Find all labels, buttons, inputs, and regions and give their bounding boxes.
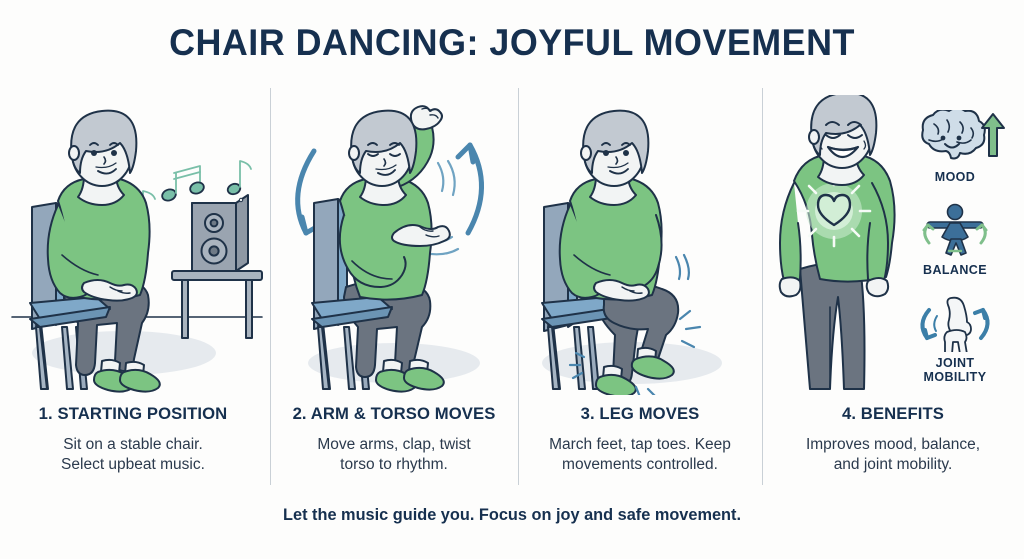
panel-4-body-line-2: and joint mobility. (762, 455, 1024, 475)
knee-joint-rotation-icon (890, 294, 1020, 354)
brain-with-up-arrow-icon (890, 108, 1020, 168)
panel-4-caption: 4. BENEFITS Improves mood, balance, and … (762, 404, 1024, 475)
panel-2-caption: 2. ARM & TORSO MOVES Move arms, clap, tw… (270, 404, 518, 475)
panel-3-caption: 3. LEG MOVES March feet, tap toes. Keep … (518, 404, 762, 475)
panel-3-body: March feet, tap toes. Keep movements con… (518, 435, 762, 475)
panel-1-heading: 1. STARTING POSITION (3, 404, 264, 424)
benefit-balance: BALANCE (890, 201, 1020, 277)
infographic-canvas: CHAIR DANCING: JOYFUL MOVEMENT (0, 0, 1024, 559)
panel-2-heading: 2. ARM & TORSO MOVES (272, 404, 515, 424)
page-title: CHAIR DANCING: JOYFUL MOVEMENT (15, 22, 1008, 64)
benefit-joint-mobility-label: JOINT MOBILITY (890, 356, 1020, 384)
balance-figure-icon (890, 201, 1020, 261)
panel-1-body-line-2: Select upbeat music. (0, 455, 266, 475)
panel-4-body: Improves mood, balance, and joint mobili… (762, 435, 1024, 475)
panel-4-heading: 4. BENEFITS (765, 404, 1022, 424)
panel-3-heading: 3. LEG MOVES (520, 404, 759, 424)
panel-2-body-line-1: Move arms, clap, twist (270, 435, 518, 455)
panel-1-body-line-1: Sit on a stable chair. (0, 435, 266, 455)
benefit-balance-label: BALANCE (890, 263, 1020, 277)
benefit-joint-mobility: JOINT MOBILITY (890, 294, 1020, 384)
panel-4-body-line-1: Improves mood, balance, (762, 435, 1024, 455)
panel-1-caption: 1. STARTING POSITION Sit on a stable cha… (0, 404, 266, 475)
panel-2-illustration (272, 95, 516, 395)
panel-3-body-line-1: March feet, tap toes. Keep (518, 435, 762, 455)
benefit-mood-label: MOOD (890, 170, 1020, 184)
panel-1-illustration (6, 95, 268, 395)
benefits-icon-column: MOOD (890, 98, 1020, 398)
panel-3-body-line-2: movements controlled. (518, 455, 762, 475)
footer-tagline: Let the music guide you. Focus on joy an… (20, 505, 1003, 525)
panel-3-illustration (520, 95, 760, 395)
benefit-mood: MOOD (890, 108, 1020, 184)
panel-2-body-line-2: torso to rhythm. (270, 455, 518, 475)
panel-2-body: Move arms, clap, twist torso to rhythm. (270, 435, 518, 475)
panel-1-body: Sit on a stable chair. Select upbeat mus… (0, 435, 266, 475)
